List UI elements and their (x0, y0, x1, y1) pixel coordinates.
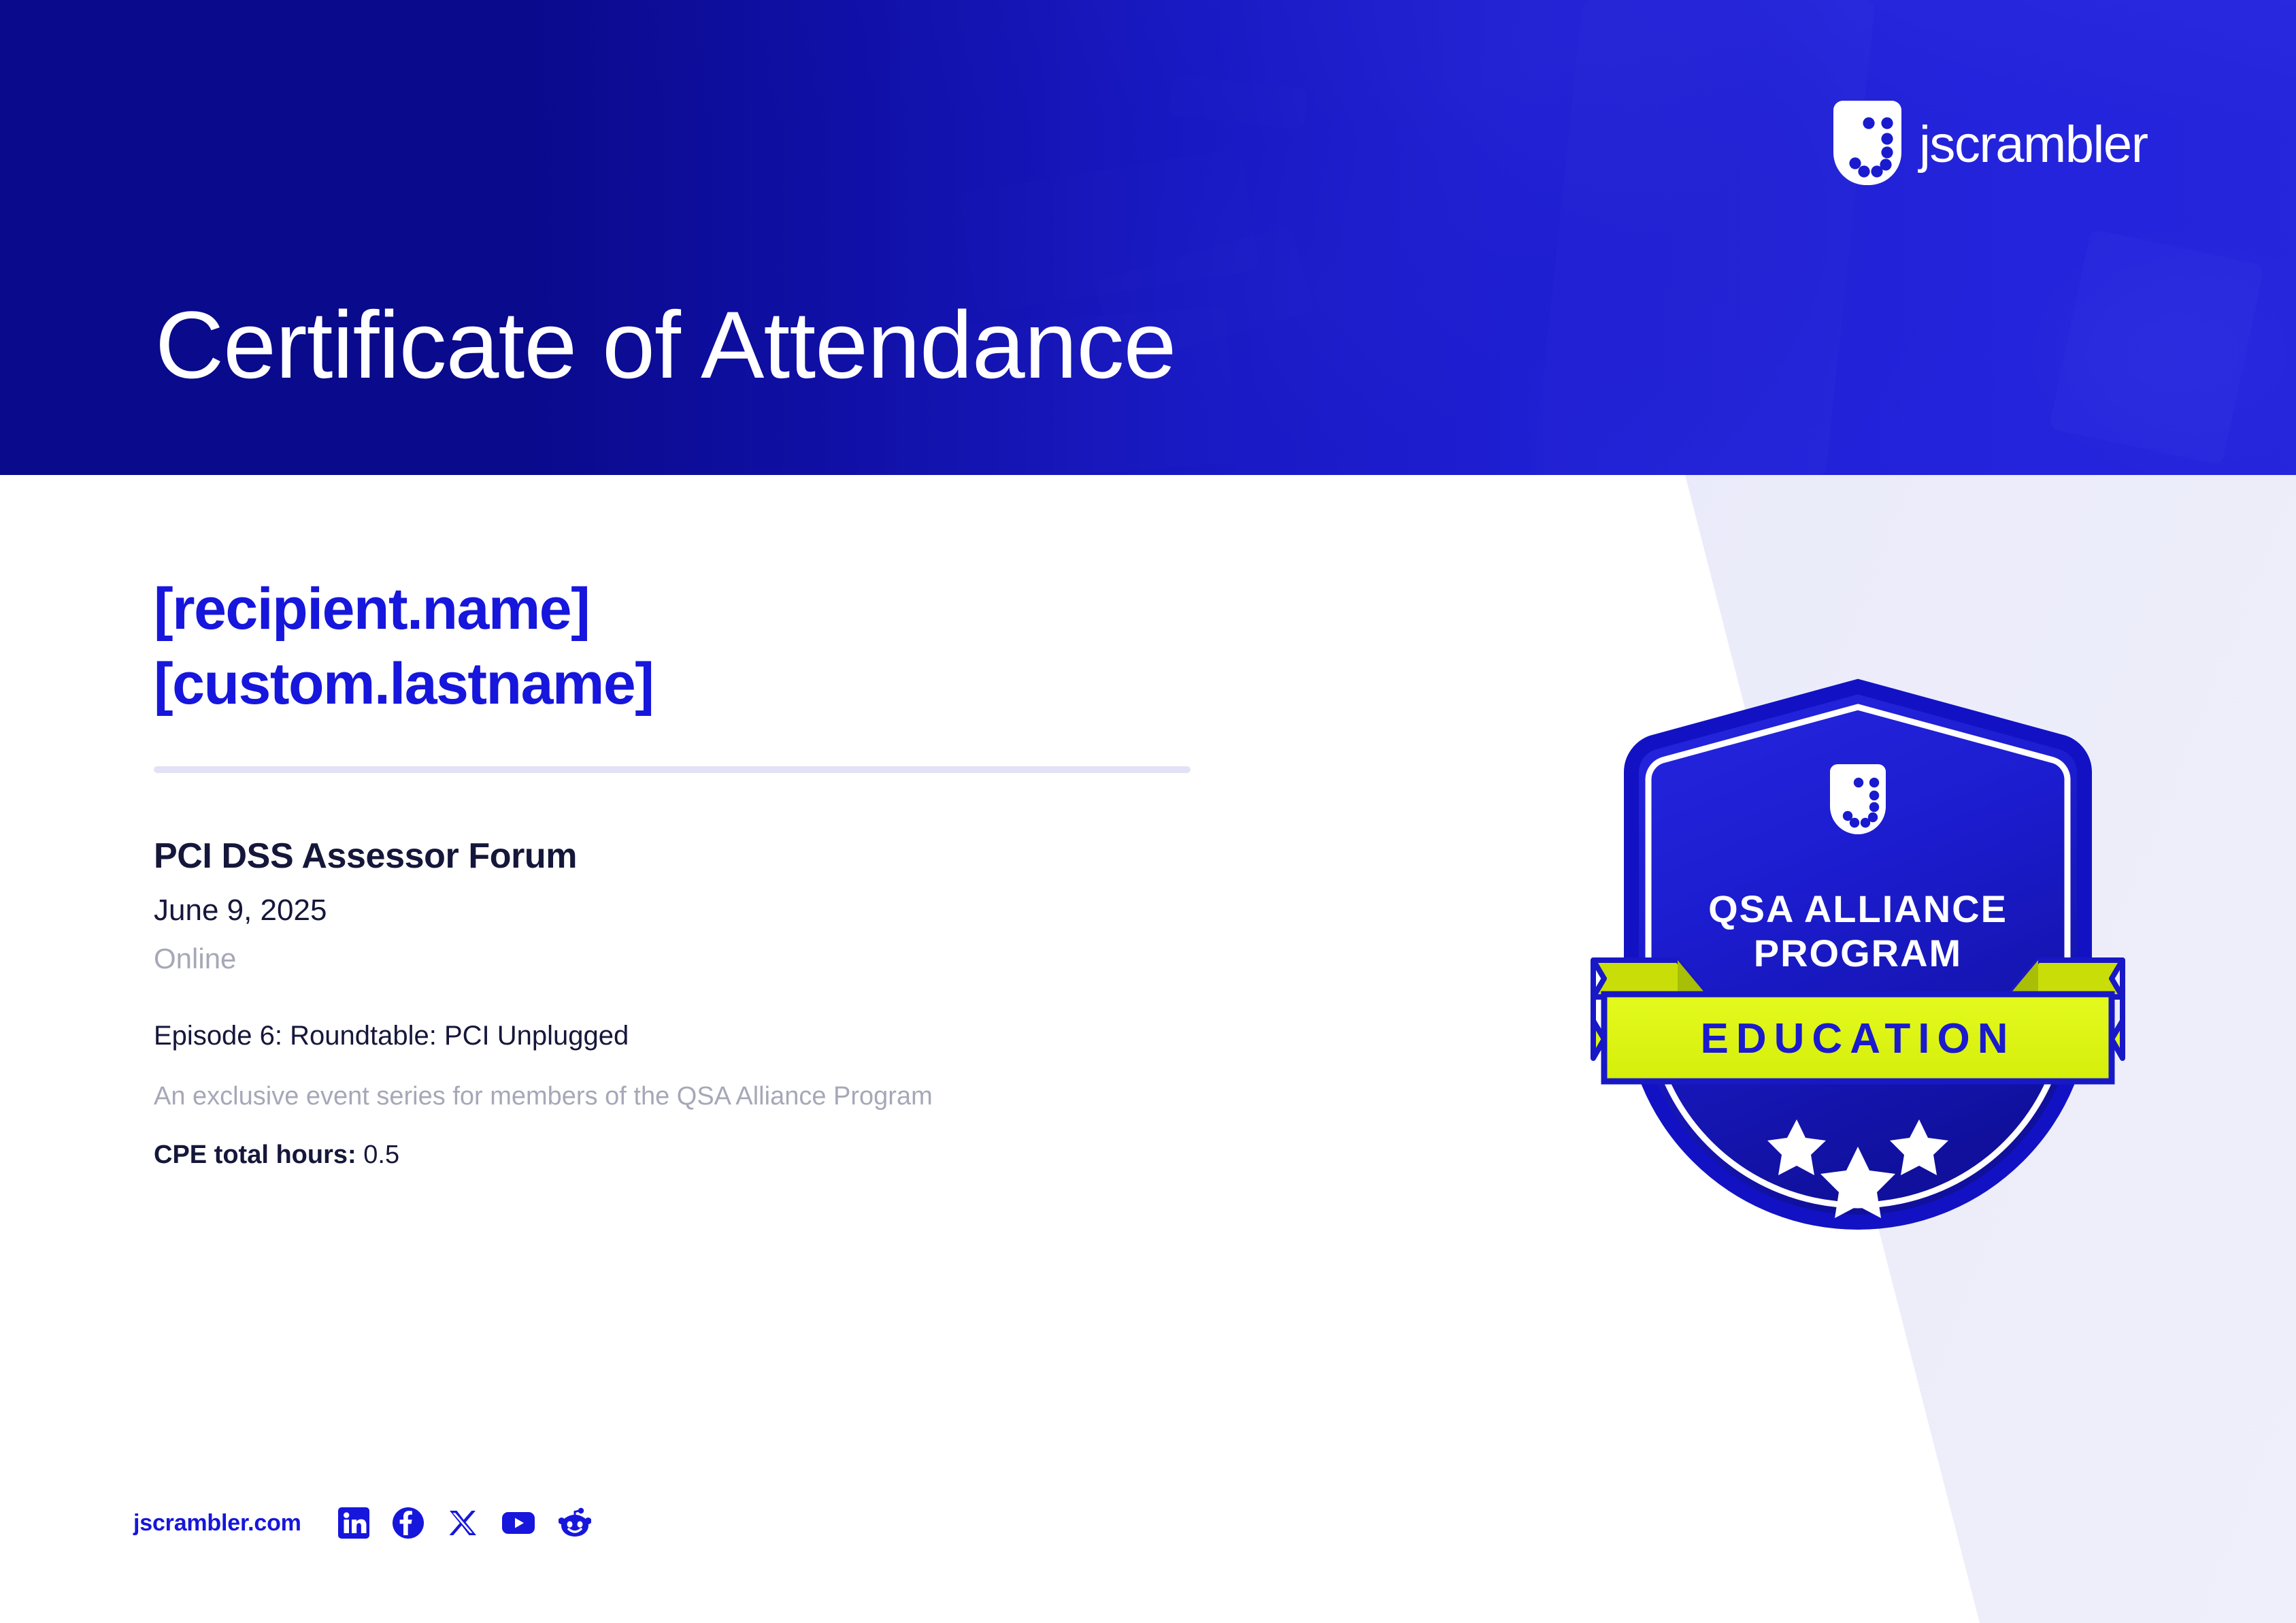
event-series-note: An exclusive event series for members of… (154, 1082, 933, 1111)
recipient-name-line1: [recipient.name] (154, 572, 653, 646)
event-location: Online (154, 942, 236, 975)
badge-jscrambler-shield-icon (1830, 764, 1886, 834)
certificate-page: Certificate of Attendance (0, 0, 2296, 1623)
event-title: PCI DSS Assessor Forum (154, 836, 577, 876)
facebook-icon[interactable] (393, 1507, 424, 1539)
page-title: Certificate of Attendance (155, 297, 1176, 393)
cpe-hours: CPE total hours: 0.5 (154, 1141, 399, 1170)
brand-wordmark: jscrambler (1919, 119, 2148, 171)
x-twitter-icon[interactable] (447, 1507, 478, 1539)
qsa-alliance-program-badge: QSA ALLIANCE PROGRAM EDUCATION (1562, 677, 2154, 1259)
recipient-name-line2: [custom.lastname] (154, 646, 653, 721)
youtube-icon[interactable] (501, 1507, 535, 1539)
certificate-header: Certificate of Attendance (0, 0, 2296, 475)
badge-title-line1: QSA ALLIANCE (1708, 887, 2008, 930)
jscrambler-shield-icon (1833, 101, 1901, 188)
section-divider (154, 766, 1191, 773)
footer: jscrambler.com (133, 1507, 591, 1539)
footer-website-link[interactable]: jscrambler.com (133, 1510, 301, 1537)
linkedin-icon[interactable] (338, 1507, 369, 1539)
event-date: June 9, 2025 (154, 894, 327, 928)
event-episode: Episode 6: Roundtable: PCI Unplugged (154, 1021, 629, 1051)
recipient-name: [recipient.name] [custom.lastname] (154, 572, 653, 721)
cpe-hours-label: CPE total hours: (154, 1141, 356, 1169)
badge-ribbon-label: EDUCATION (1701, 1015, 2016, 1062)
cpe-hours-value: 0.5 (363, 1141, 399, 1169)
header-blue-overlay (0, 0, 2296, 475)
reddit-icon[interactable] (559, 1507, 591, 1539)
badge-title-line2: PROGRAM (1754, 932, 1962, 974)
brand-logo: jscrambler (1833, 101, 2148, 188)
